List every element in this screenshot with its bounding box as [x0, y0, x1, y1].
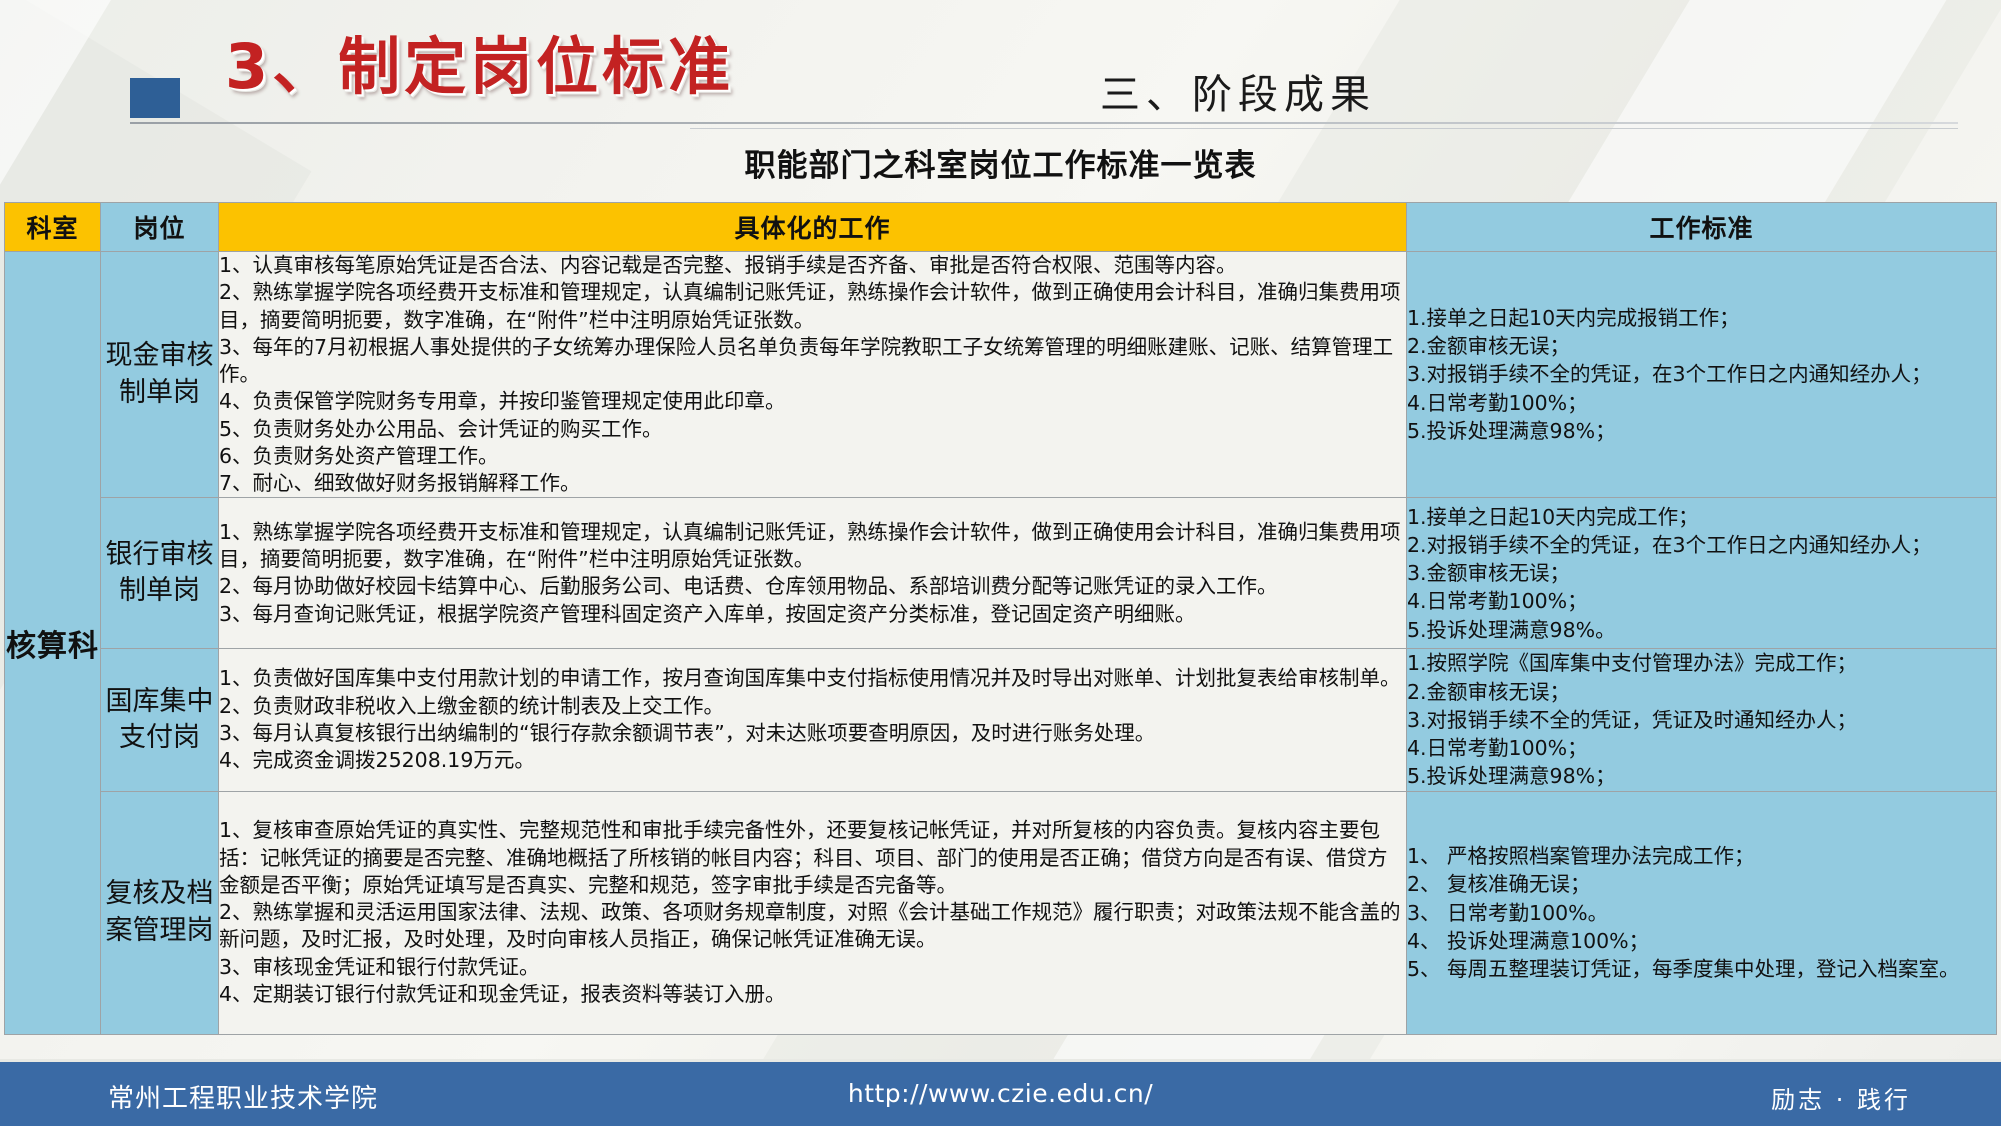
cell-standard: 1、 严格按照档案管理办法完成工作； 2、 复核准确无误； 3、 日常考勤100… [1407, 791, 1997, 1034]
work-item: 3、每月查询记账凭证，根据学院资产管理科固定资产入库单，按固定资产分类标准，登记… [219, 601, 1406, 628]
header-divider-secondary [690, 128, 1958, 129]
cell-department: 核算科 [5, 252, 101, 1035]
cell-standard: 1.接单之日起10天内完成工作； 2.对报销手续不全的凭证，在3个工作日之内通知… [1407, 498, 1997, 649]
standard-item: 1.接单之日起10天内完成工作； [1407, 503, 1996, 531]
work-item: 4、定期装订银行付款凭证和现金凭证，报表资料等装订入册。 [219, 981, 1406, 1008]
cell-work: 1、认真审核每笔原始凭证是否合法、内容记载是否完整、报销手续是否齐备、审批是否符… [219, 252, 1407, 498]
standards-table: 科室 岗位 具体化的工作 工作标准 核算科 现金审核制单岗 1、认真审核每笔原始… [4, 202, 1997, 1035]
standard-item: 1.按照学院《国库集中支付管理办法》完成工作； [1407, 649, 1996, 677]
work-item: 7、耐心、细致做好财务报销解释工作。 [219, 470, 1406, 497]
section-title: 三、阶段成果 [1100, 62, 1376, 120]
footer-motto: 励志 · 践行 [1771, 1080, 1911, 1115]
standard-item: 2.金额审核无误； [1407, 678, 1996, 706]
column-header-department: 科室 [5, 203, 101, 252]
work-item: 6、负责财务处资产管理工作。 [219, 443, 1406, 470]
work-item: 3、审核现金凭证和银行付款凭证。 [219, 954, 1406, 981]
work-item: 2、负责财政非税收入上缴金额的统计制表及上交工作。 [219, 693, 1406, 720]
standard-item: 3.对报销手续不全的凭证，在3个工作日之内通知经办人； [1407, 360, 1996, 388]
table-caption: 职能部门之科室岗位工作标准一览表 [0, 140, 2001, 185]
standards-table-wrapper: 科室 岗位 具体化的工作 工作标准 核算科 现金审核制单岗 1、认真审核每笔原始… [4, 202, 1997, 1035]
table-body: 核算科 现金审核制单岗 1、认真审核每笔原始凭证是否合法、内容记载是否完整、报销… [5, 252, 1997, 1035]
table-row: 核算科 现金审核制单岗 1、认真审核每笔原始凭证是否合法、内容记载是否完整、报销… [5, 252, 1997, 498]
slide-header: 3、制定岗位标准 三、阶段成果 [0, 0, 2001, 150]
standard-item: 5、 每周五整理装订凭证，每季度集中处理，登记入档案室。 [1407, 955, 1996, 983]
standard-item: 1.接单之日起10天内完成报销工作； [1407, 304, 1996, 332]
standard-item: 2.金额审核无误； [1407, 332, 1996, 360]
work-item: 1、复核审查原始凭证的真实性、完整规范性和审批手续完备性外，还要复核记帐凭证，并… [219, 817, 1406, 899]
slide-canvas: 3、制定岗位标准 三、阶段成果 职能部门之科室岗位工作标准一览表 科室 岗位 具… [0, 0, 2001, 1126]
cell-work: 1、熟练掌握学院各项经费开支标准和管理规定，认真编制记账凭证，熟练操作会计软件，… [219, 498, 1407, 649]
standard-item: 4.日常考勤100%； [1407, 734, 1996, 762]
standard-item: 5.投诉处理满意98%； [1407, 417, 1996, 445]
standard-item: 3.对报销手续不全的凭证，凭证及时通知经办人； [1407, 706, 1996, 734]
cell-work: 1、负责做好国库集中支付用款计划的申请工作，按月查询国库集中支付指标使用情况并及… [219, 649, 1407, 791]
cell-standard: 1.按照学院《国库集中支付管理办法》完成工作； 2.金额审核无误； 3.对报销手… [1407, 649, 1997, 791]
work-item: 3、每月认真复核银行出纳编制的“银行存款余额调节表”，对未达账项要查明原因，及时… [219, 720, 1406, 747]
table-header: 科室 岗位 具体化的工作 工作标准 [5, 203, 1997, 252]
standard-item: 2.对报销手续不全的凭证，在3个工作日之内通知经办人； [1407, 531, 1996, 559]
cell-post: 复核及档案管理岗 [101, 791, 219, 1034]
standard-item: 1、 严格按照档案管理办法完成工作； [1407, 842, 1996, 870]
standard-item: 3.金额审核无误； [1407, 559, 1996, 587]
cell-work: 1、复核审查原始凭证的真实性、完整规范性和审批手续完备性外，还要复核记帐凭证，并… [219, 791, 1407, 1034]
standard-item: 2、 复核准确无误； [1407, 870, 1996, 898]
table-row: 银行审核制单岗 1、熟练掌握学院各项经费开支标准和管理规定，认真编制记账凭证，熟… [5, 498, 1997, 649]
standard-item: 5.投诉处理满意98%。 [1407, 616, 1996, 644]
table-row: 国库集中支付岗 1、负责做好国库集中支付用款计划的申请工作，按月查询国库集中支付… [5, 649, 1997, 791]
work-item: 1、负责做好国库集中支付用款计划的申请工作，按月查询国库集中支付指标使用情况并及… [219, 665, 1406, 692]
table-header-row: 科室 岗位 具体化的工作 工作标准 [5, 203, 1997, 252]
footer-url[interactable]: http://www.czie.edu.cn/ [0, 1079, 2001, 1108]
work-item: 1、认真审核每笔原始凭证是否合法、内容记载是否完整、报销手续是否齐备、审批是否符… [219, 252, 1406, 279]
column-header-work: 具体化的工作 [219, 203, 1407, 252]
header-divider [130, 122, 1958, 124]
work-item: 2、每月协助做好校园卡结算中心、后勤服务公司、电话费、仓库领用物品、系部培训费分… [219, 573, 1406, 600]
standard-item: 5.投诉处理满意98%； [1407, 762, 1996, 790]
standard-item: 4.日常考勤100%； [1407, 587, 1996, 615]
work-item: 3、每年的7月初根据人事处提供的子女统筹办理保险人员名单负责每年学院教职工子女统… [219, 334, 1406, 389]
work-item: 2、熟练掌握和灵活运用国家法律、法规、政策、各项财务规章制度，对照《会计基础工作… [219, 899, 1406, 954]
standard-item: 4.日常考勤100%； [1407, 389, 1996, 417]
slide-footer: 常州工程职业技术学院 http://www.czie.edu.cn/ 励志 · … [0, 1059, 2001, 1126]
standard-item: 4、 投诉处理满意100%； [1407, 927, 1996, 955]
cell-post: 国库集中支付岗 [101, 649, 219, 791]
work-item: 5、负责财务处办公用品、会计凭证的购买工作。 [219, 416, 1406, 443]
title-bullet-square [130, 78, 180, 118]
cell-post: 现金审核制单岗 [101, 252, 219, 498]
standard-item: 3、 日常考勤100%。 [1407, 899, 1996, 927]
table-row: 复核及档案管理岗 1、复核审查原始凭证的真实性、完整规范性和审批手续完备性外，还… [5, 791, 1997, 1034]
work-item: 2、熟练掌握学院各项经费开支标准和管理规定，认真编制记账凭证，熟练操作会计软件，… [219, 279, 1406, 334]
column-header-post: 岗位 [101, 203, 219, 252]
work-item: 4、负责保管学院财务专用章，并按印鉴管理规定使用此印章。 [219, 388, 1406, 415]
cell-standard: 1.接单之日起10天内完成报销工作； 2.金额审核无误； 3.对报销手续不全的凭… [1407, 252, 1997, 498]
column-header-standard: 工作标准 [1407, 203, 1997, 252]
cell-post: 银行审核制单岗 [101, 498, 219, 649]
slide-title: 3、制定岗位标准 [225, 36, 734, 98]
work-item: 1、熟练掌握学院各项经费开支标准和管理规定，认真编制记账凭证，熟练操作会计软件，… [219, 519, 1406, 574]
work-item: 4、完成资金调拨25208.19万元。 [219, 747, 1406, 774]
